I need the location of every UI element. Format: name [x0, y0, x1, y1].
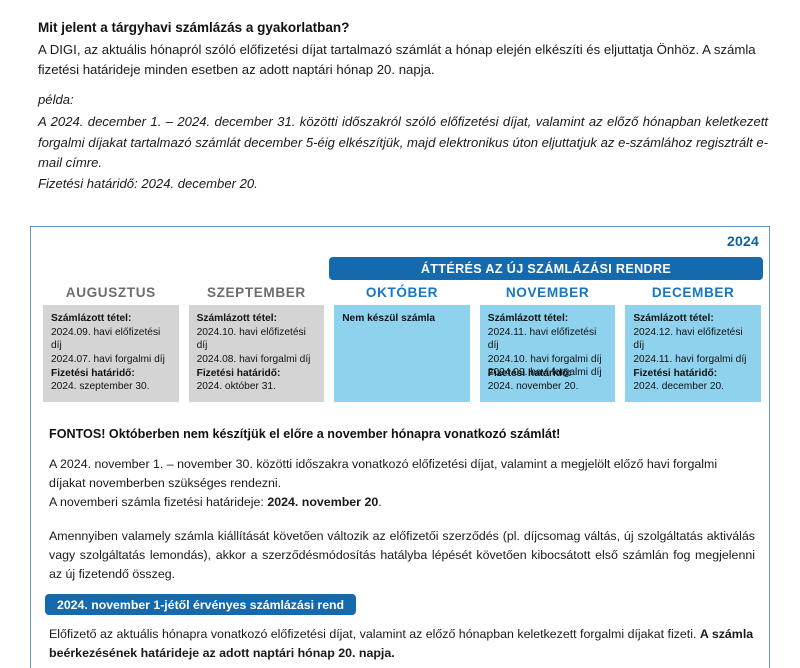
month-title: NOVEMBER	[480, 285, 616, 305]
deadline-label: Fizetési határidő:	[51, 367, 150, 381]
month-title: AUGUSZTUS	[43, 285, 179, 305]
month-column-december: DECEMBER Számlázott tétel: 2024.12. havi…	[625, 285, 761, 402]
important-line-2-bold: 2024. november 20	[267, 495, 378, 509]
items-label: Számlázott tétel:	[51, 312, 172, 326]
year-label: 2024	[727, 233, 759, 249]
deadline-block: Fizetési határidő: 2024. november 20.	[488, 367, 579, 394]
item-line: 2024.11. havi előfizetési díj	[488, 326, 609, 353]
month-box: Számlázott tétel: 2024.11. havi előfizet…	[480, 305, 616, 402]
contract-change-note: Amennyiben valamely számla kiállítását k…	[49, 527, 755, 584]
deadline-value: 2024. szeptember 30.	[51, 380, 150, 394]
month-title: OKTÓBER	[334, 285, 470, 305]
month-box: Számlázott tétel: 2024.10. havi előfizet…	[189, 305, 325, 402]
transition-banner: ÁTTÉRÉS AZ ÚJ SZÁMLÁZÁSI RENDRE	[329, 257, 763, 280]
month-box: Számlázott tétel: 2024.09. havi előfizet…	[43, 305, 179, 402]
deadline-value: 2024. október 31.	[197, 380, 281, 394]
month-title: SZEPTEMBER	[189, 285, 325, 305]
example-block: példa: A 2024. december 1. – 2024. decem…	[38, 90, 768, 194]
example-paragraph: A 2024. december 1. – 2024. december 31.…	[38, 112, 768, 173]
month-box: Nem készül számla	[334, 305, 470, 402]
items-label: Számlázott tétel:	[633, 312, 754, 326]
page-title: Mit jelent a tárgyhavi számlázás a gyako…	[38, 18, 768, 38]
item-line: 2024.12. havi előfizetési díj	[633, 326, 754, 353]
month-title: DECEMBER	[625, 285, 761, 305]
deadline-value: 2024. december 20.	[633, 380, 724, 394]
items-label: Számlázott tétel:	[488, 312, 609, 326]
item-line: 2024.11. havi forgalmi díj	[633, 353, 754, 367]
month-column-szeptember: SZEPTEMBER Számlázott tétel: 2024.10. ha…	[189, 285, 325, 402]
month-column-november: NOVEMBER Számlázott tétel: 2024.11. havi…	[480, 285, 616, 402]
month-column-oktober: OKTÓBER Nem készül számla	[334, 285, 470, 402]
intro-block: Mit jelent a tárgyhavi számlázás a gyako…	[38, 18, 768, 80]
deadline-block: Fizetési határidő: 2024. szeptember 30.	[51, 367, 150, 394]
important-body: A 2024. november 1. – november 30. közöt…	[49, 455, 755, 512]
month-box: Számlázott tétel: 2024.12. havi előfizet…	[625, 305, 761, 402]
transition-banner-label: ÁTTÉRÉS AZ ÚJ SZÁMLÁZÁSI RENDRE	[421, 262, 671, 276]
new-rule-chip: 2024. november 1-jétől érvényes számlázá…	[45, 594, 356, 615]
deadline-label: Fizetési határidő:	[633, 367, 724, 381]
deadline-label: Fizetési határidő:	[488, 367, 579, 381]
document-page: Mit jelent a tárgyhavi számlázás a gyako…	[0, 0, 800, 668]
important-line-1: A 2024. november 1. – november 30. közöt…	[49, 457, 717, 490]
new-rule-body: Előfizető az aktuális hónapra vonatkozó …	[49, 625, 755, 663]
example-label: példa:	[38, 90, 768, 110]
intro-paragraph: A DIGI, az aktuális hónapról szóló előfi…	[38, 40, 768, 80]
items-label: Számlázott tétel:	[197, 312, 318, 326]
item-line: 2024.10. havi előfizetési díj	[197, 326, 318, 353]
item-line: 2024.08. havi forgalmi díj	[197, 353, 318, 367]
deadline-block: Fizetési határidő: 2024. december 20.	[633, 367, 724, 394]
important-title: FONTOS! Októberben nem készítjük el előr…	[49, 427, 755, 441]
deadline-block: Fizetési határidő: 2024. október 31.	[197, 367, 281, 394]
item-line: 2024.07. havi forgalmi díj	[51, 353, 172, 367]
important-line-2-suffix: .	[378, 495, 381, 509]
no-invoice-label: Nem készül számla	[342, 312, 463, 326]
important-line-2-prefix: A novemberi számla fizetési határideje:	[49, 495, 267, 509]
deadline-label: Fizetési határidő:	[197, 367, 281, 381]
new-rule-prefix: Előfizető az aktuális hónapra vonatkozó …	[49, 627, 700, 641]
item-line: 2024.09. havi előfizetési díj	[51, 326, 172, 353]
item-line: 2024.10. havi forgalmi díj	[488, 353, 609, 367]
month-grid: AUGUSZTUS Számlázott tétel: 2024.09. hav…	[43, 285, 761, 402]
month-column-augusztus: AUGUSZTUS Számlázott tétel: 2024.09. hav…	[43, 285, 179, 402]
new-rule-chip-label: 2024. november 1-jétől érvényes számlázá…	[57, 598, 344, 612]
deadline-value: 2024. november 20.	[488, 380, 579, 394]
example-deadline: Fizetési határidő: 2024. december 20.	[38, 174, 768, 194]
billing-schedule-panel: 2024 ÁTTÉRÉS AZ ÚJ SZÁMLÁZÁSI RENDRE AUG…	[30, 226, 770, 668]
